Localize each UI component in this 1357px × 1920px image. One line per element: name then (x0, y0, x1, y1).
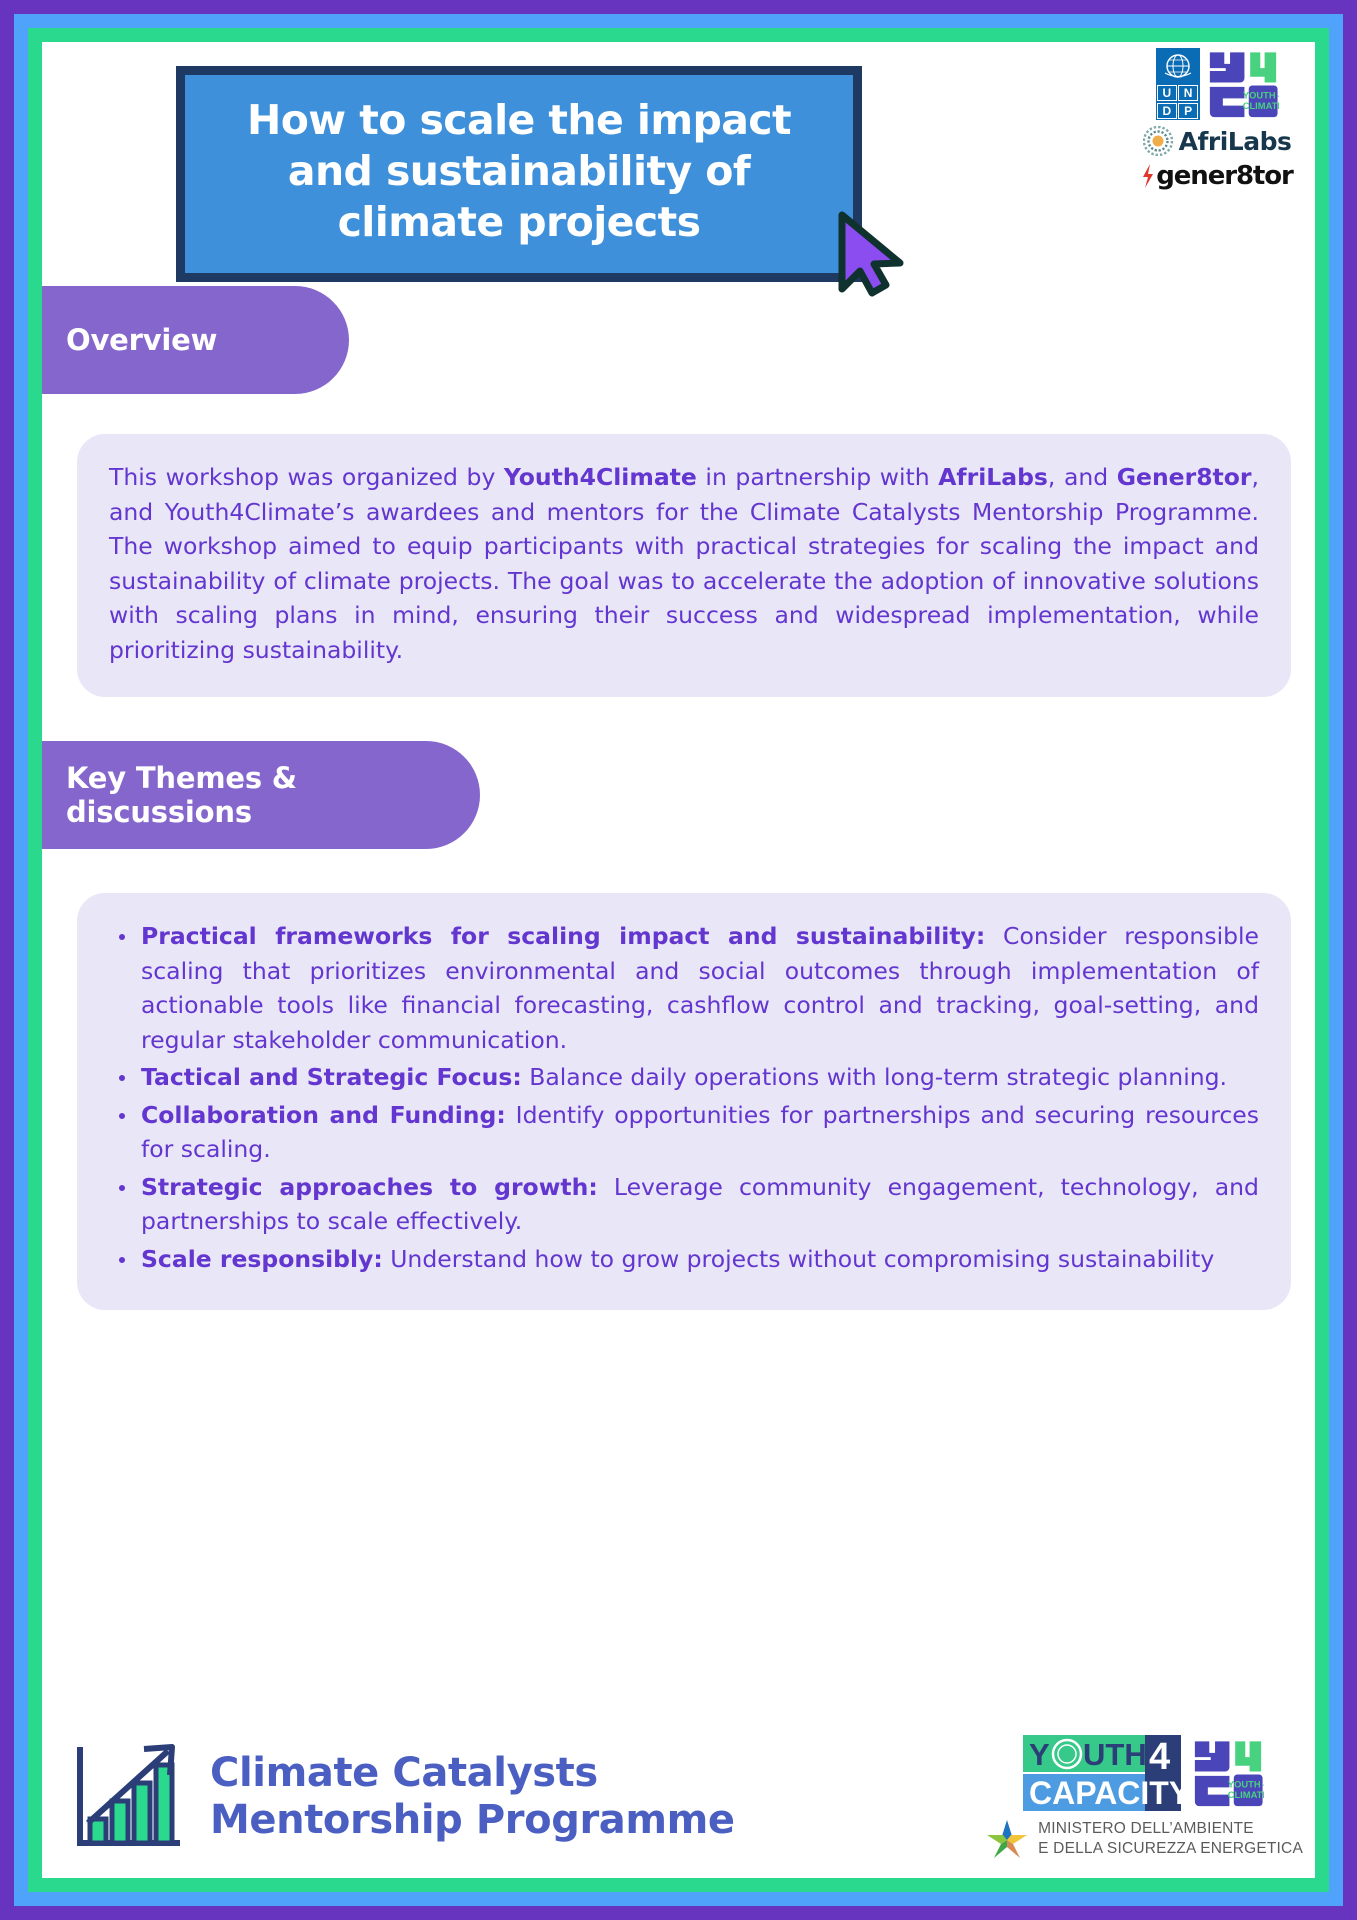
svg-text:CAPACITY: CAPACITY (1029, 1775, 1183, 1811)
mid-blue-frame: How to scale the impact and sustainabili… (14, 14, 1343, 1906)
poster-page: How to scale the impact and sustainabili… (42, 42, 1315, 1878)
ministry-line1: MINISTERO DELL’AMBIENTE (1038, 1819, 1303, 1839)
key-themes-list: Practical frameworks for scaling impact … (109, 919, 1259, 1276)
ministry-logo: MINISTERO DELL’AMBIENTE E DELLA SICUREZZ… (984, 1816, 1303, 1862)
section-pill-key-themes: Key Themes & discussions (42, 741, 480, 849)
overview-text-run: , and (1048, 463, 1117, 491)
key-theme-item: Collaboration and Funding: Identify oppo… (109, 1098, 1259, 1167)
key-theme-item: Strategic approaches to growth: Leverage… (109, 1170, 1259, 1239)
footer-logo-stack: Y UTH 4 CAPACITY YOUTH 4 CLIMATE (984, 1733, 1303, 1862)
growth-chart-icon (70, 1741, 188, 1853)
logo-row-primary: U N D P YOUTH 4 CLIMATE (1156, 48, 1279, 120)
svg-text:4: 4 (1149, 1736, 1170, 1778)
key-theme-lead: Practical frameworks for scaling impact … (141, 922, 985, 950)
overview-text-run: , and Youth4Climate’s awardees and mento… (109, 463, 1259, 664)
footer-title-line1: Climate Catalysts (210, 1750, 735, 1797)
key-theme-lead: Scale responsibly: (141, 1245, 383, 1273)
undp-letter: U (1157, 85, 1177, 101)
page-title: How to scale the impact and sustainabili… (207, 95, 831, 247)
afrilabs-mark-icon (1143, 126, 1173, 156)
undp-letter: P (1178, 103, 1198, 119)
youth4capacity-logo: Y UTH 4 CAPACITY (1023, 1733, 1183, 1813)
overview-bold-term: AfriLabs (938, 463, 1048, 491)
svg-text:YOUTH 4: YOUTH 4 (1242, 90, 1278, 100)
outer-purple-frame: How to scale the impact and sustainabili… (0, 0, 1357, 1920)
key-theme-description: Understand how to grow projects without … (383, 1245, 1215, 1273)
youth4climate-logo: YOUTH 4 CLIMATE (1207, 48, 1279, 120)
footer-logo-row: Y UTH 4 CAPACITY YOUTH 4 CLIMATE (1023, 1733, 1264, 1813)
key-theme-lead: Tactical and Strategic Focus: (141, 1063, 522, 1091)
key-theme-item: Practical frameworks for scaling impact … (109, 919, 1259, 1057)
footer-youth4climate-logo: YOUTH 4 CLIMATE (1192, 1737, 1264, 1809)
svg-text:UTH: UTH (1083, 1737, 1147, 1772)
gener8tor-logo: gener8tor (1141, 161, 1293, 191)
key-theme-lead: Collaboration and Funding: (141, 1101, 506, 1129)
ministry-text: MINISTERO DELL’AMBIENTE E DELLA SICUREZZ… (1038, 1819, 1303, 1858)
header: How to scale the impact and sustainabili… (42, 42, 1315, 270)
partner-logo-stack: U N D P YOUTH 4 CLIMATE (1141, 48, 1293, 191)
gener8tor-wordmark: gener8tor (1156, 161, 1293, 191)
overview-bold-term: Gener8tor (1117, 463, 1252, 491)
afrilabs-wordmark: AfriLabs (1179, 127, 1292, 156)
ministry-line2: E DELLA SICUREZZA ENERGETICA (1038, 1839, 1303, 1859)
key-theme-description: Balance daily operations with long-term … (522, 1063, 1227, 1091)
undp-letters: U N D P (1156, 84, 1200, 121)
section-pill-overview: Overview (42, 286, 349, 394)
title-box: How to scale the impact and sustainabili… (176, 66, 862, 282)
gener8tor-bolt-icon (1141, 163, 1155, 189)
svg-text:CLIMATE: CLIMATE (1242, 101, 1278, 111)
key-theme-item: Scale responsibly: Understand how to gro… (109, 1242, 1259, 1277)
cursor-arrow-icon (838, 211, 910, 297)
key-themes-card: Practical frameworks for scaling impact … (77, 893, 1291, 1309)
undp-logo: U N D P (1156, 48, 1200, 120)
key-theme-lead: Strategic approaches to growth: (141, 1173, 598, 1201)
undp-letter: N (1178, 85, 1198, 101)
footer-programme: Climate Catalysts Mentorship Programme (70, 1741, 735, 1853)
footer-programme-title: Climate Catalysts Mentorship Programme (210, 1750, 735, 1844)
key-theme-item: Tactical and Strategic Focus: Balance da… (109, 1060, 1259, 1095)
footer-title-line2: Mentorship Programme (210, 1797, 735, 1844)
overview-text-run: This workshop was organized by (109, 463, 504, 491)
footer: Climate Catalysts Mentorship Programme Y… (42, 1722, 1315, 1872)
ministry-star-icon (984, 1816, 1030, 1862)
svg-text:Y: Y (1029, 1737, 1050, 1772)
overview-bold-term: Youth4Climate (504, 463, 697, 491)
inner-green-frame: How to scale the impact and sustainabili… (28, 28, 1329, 1892)
overview-text-run: in partnership with (697, 463, 938, 491)
overview-paragraph: This workshop was organized by Youth4Cli… (109, 460, 1259, 667)
undp-letter: D (1157, 103, 1177, 119)
svg-text:YOUTH 4: YOUTH 4 (1228, 1779, 1264, 1789)
overview-card: This workshop was organized by Youth4Cli… (77, 434, 1291, 697)
title-box-inner: How to scale the impact and sustainabili… (185, 75, 853, 273)
undp-globe-icon (1156, 48, 1200, 84)
afrilabs-logo: AfriLabs (1143, 126, 1292, 156)
svg-text:CLIMATE: CLIMATE (1228, 1790, 1264, 1800)
